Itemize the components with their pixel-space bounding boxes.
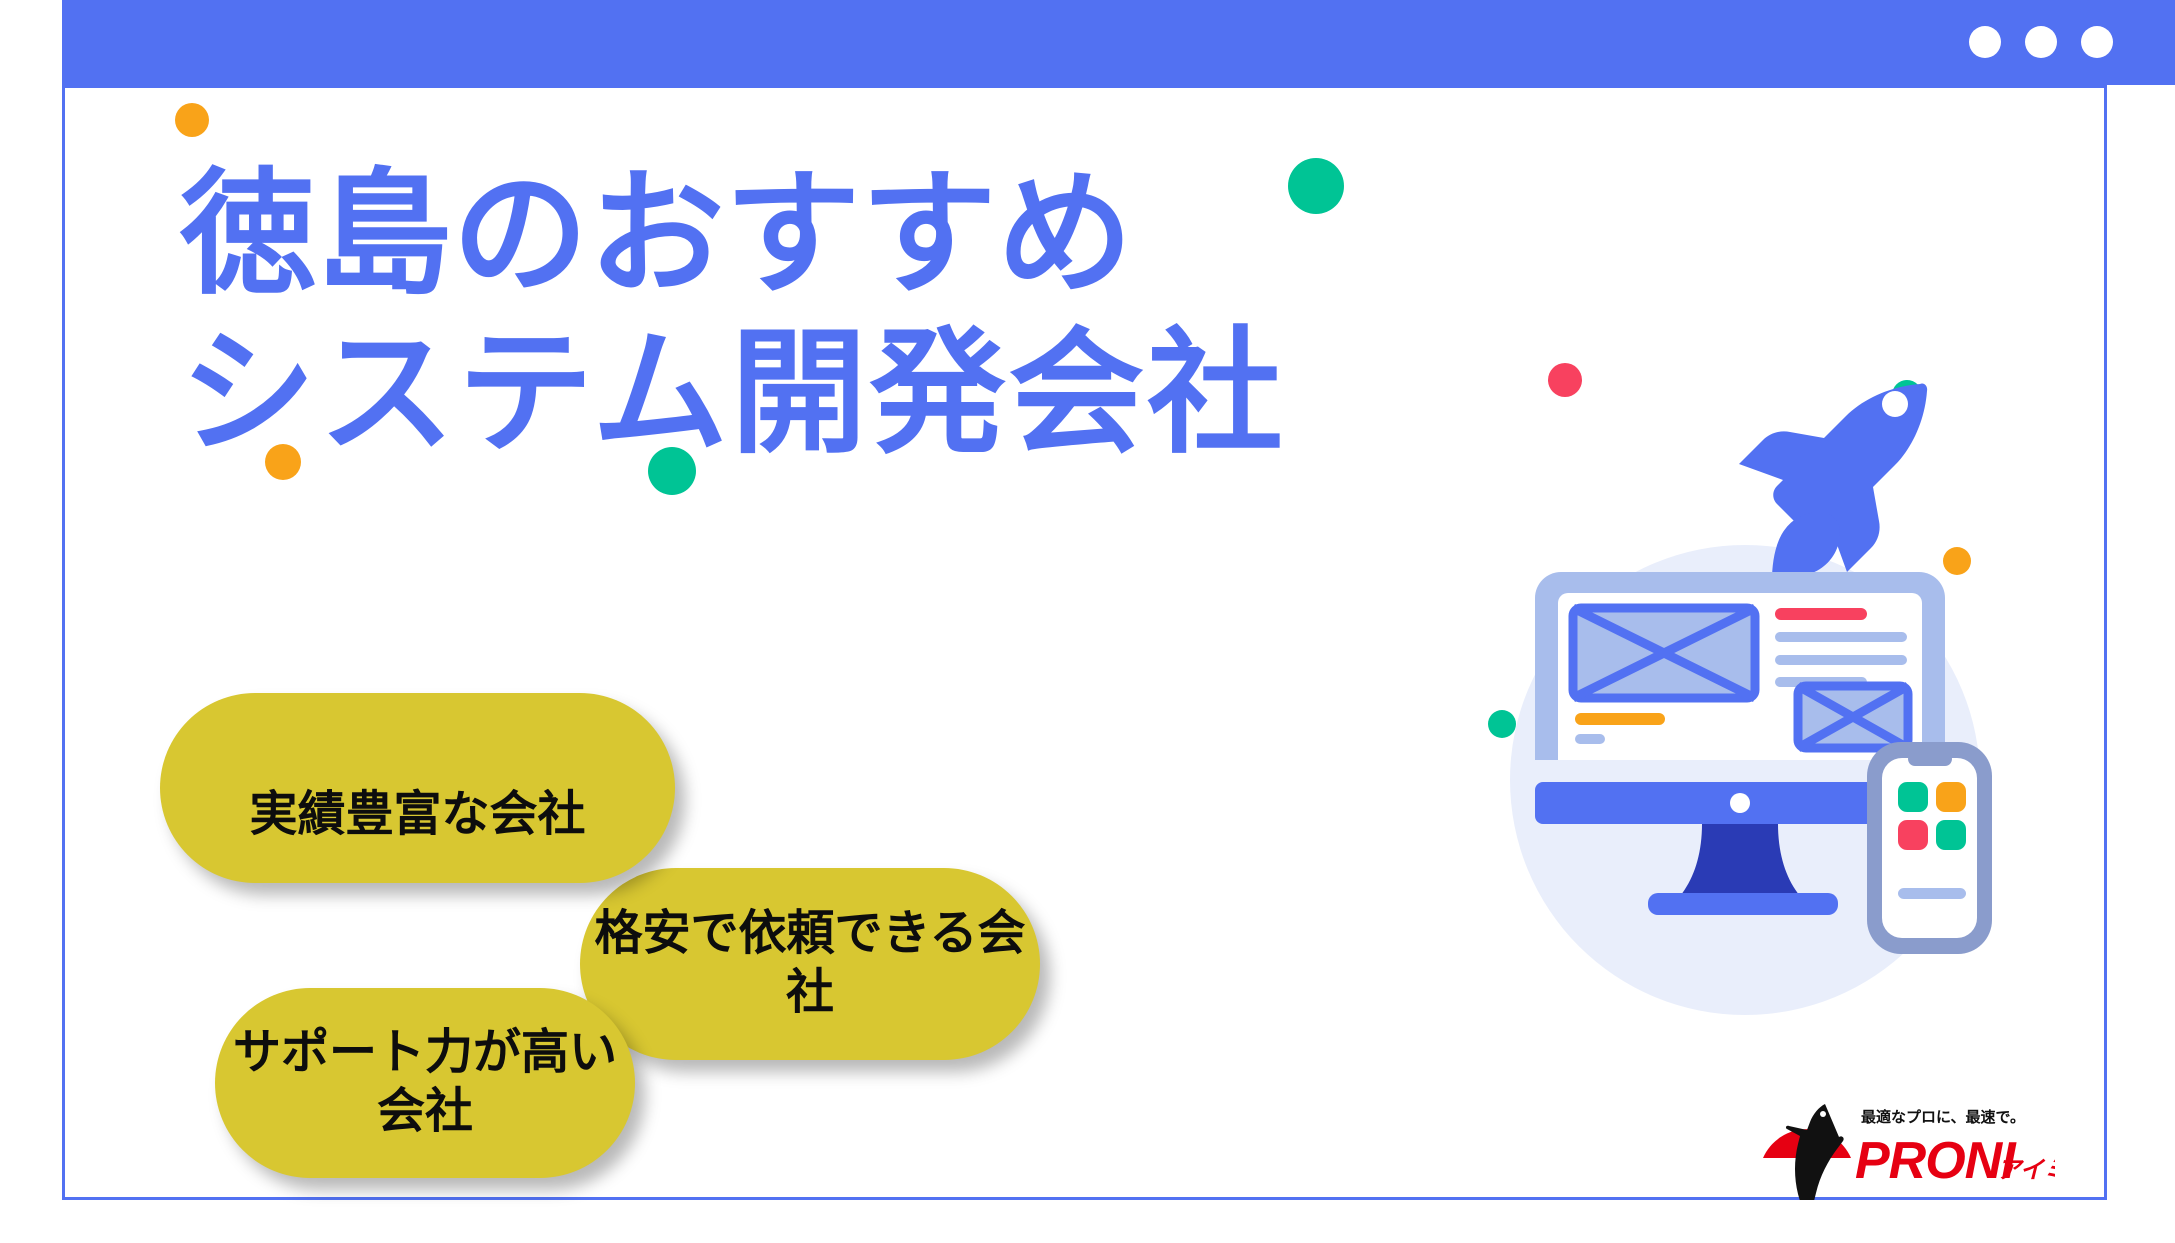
proni-bird-mark [1763, 1104, 1851, 1200]
text-line-2 [1775, 655, 1907, 665]
proni-brand: PRONI [1855, 1132, 2017, 1190]
proni-tagline: 最適なプロに、最速で。 [1861, 1108, 2025, 1126]
app-icon-green-2 [1936, 820, 1966, 850]
feature-pill-support[interactable]: サポート力が高い会社 [215, 988, 635, 1178]
window-dot-3-icon[interactable] [2081, 26, 2113, 58]
browser-title-bar [62, 0, 2175, 85]
page-title-line-2: システム開発会社 [180, 314, 1360, 473]
page-title: 徳島のおすすめ システム開発会社 [180, 155, 1360, 473]
dot-orange-top-left [175, 103, 209, 137]
phone-home-bar [1898, 888, 1966, 899]
smartphone [1867, 742, 1992, 954]
feature-pill-low-cost[interactable]: 格安で依頼できる会社 [580, 868, 1040, 1060]
app-icon-green-1 [1898, 782, 1928, 812]
window-dot-2-icon[interactable] [2025, 26, 2057, 58]
proni-brand-sub: アイミツ [1997, 1157, 2055, 1184]
feature-pill-label: サポート力が高い会社 [215, 1024, 635, 1141]
text-line-red [1775, 608, 1867, 620]
text-line-orange [1575, 713, 1665, 725]
monitor-power-dot [1730, 793, 1750, 813]
rocket-window [1882, 391, 1908, 417]
window-dot-1-icon[interactable] [1969, 26, 2001, 58]
left-margin [0, 0, 62, 1243]
app-icon-orange [1936, 782, 1966, 812]
feature-pill-label: 実績豊富な会社 [249, 786, 585, 845]
monitor-foot [1648, 893, 1838, 915]
slide-canvas: 徳島のおすすめ システム開発会社 実績豊富な会社 格安で依頼できる会社 サポート… [0, 0, 2175, 1243]
phone-notch [1908, 752, 1952, 766]
feature-pill-track-record[interactable]: 実績豊富な会社 [160, 693, 675, 883]
text-line-short [1575, 734, 1605, 744]
app-icon-red [1898, 820, 1928, 850]
page-title-line-1: 徳島のおすすめ [180, 155, 1360, 314]
proni-logo[interactable]: 最適なプロに、最速で。 PRONI アイミツ [1755, 1100, 2055, 1200]
feature-pill-label: 格安で依頼できる会社 [580, 905, 1040, 1022]
text-line-1 [1775, 632, 1907, 642]
window-controls[interactable] [1969, 26, 2113, 58]
devices-rocket-illustration [1480, 380, 2020, 1070]
